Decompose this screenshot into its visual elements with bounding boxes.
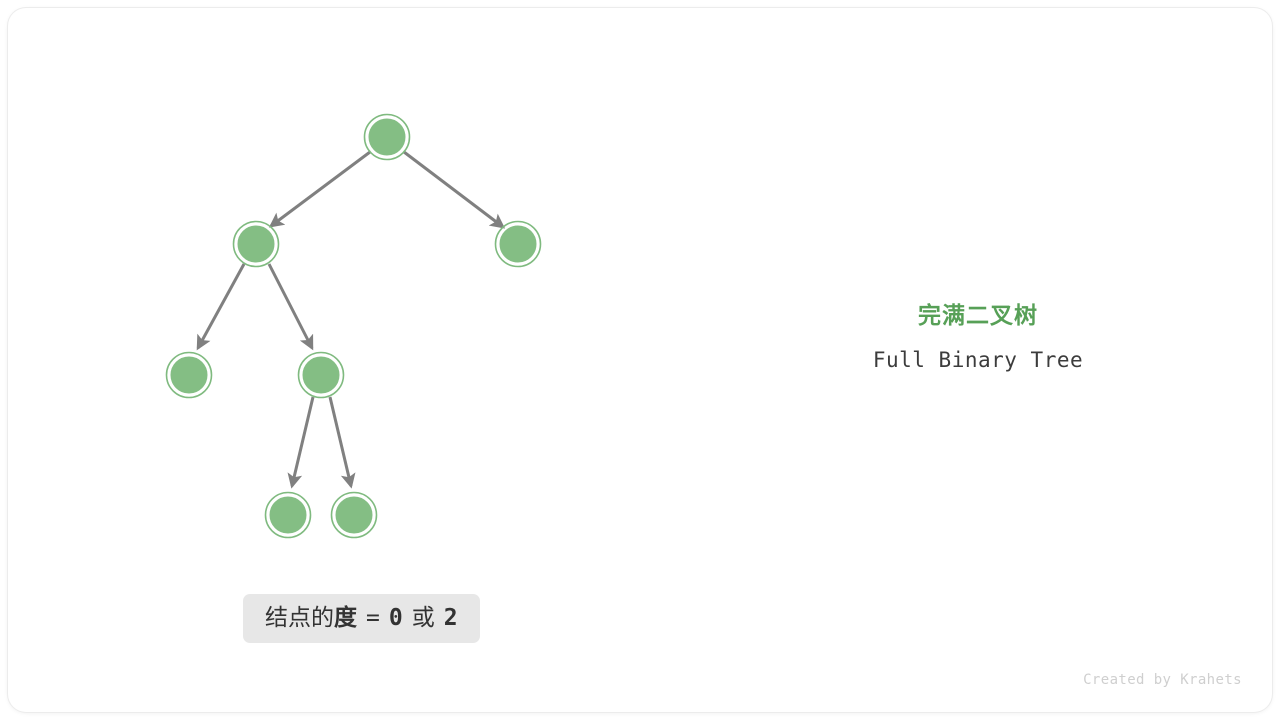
tree-edges — [198, 152, 503, 486]
caption-part-6: 2 — [444, 607, 458, 630]
edge-n5-n6 — [292, 397, 313, 486]
degree-caption-chip: 结点的度=0或2 — [243, 594, 480, 643]
tree-node-left-right[interactable] — [299, 353, 344, 398]
edge-n5-n7 — [330, 397, 351, 486]
edge-n1-n2 — [271, 152, 370, 226]
diagram-title-cn: 完满二叉树 — [768, 300, 1188, 330]
caption-part-1: 结点的 — [265, 607, 334, 630]
diagram-card: 完满二叉树 Full Binary Tree 结点的度=0或2 Created … — [8, 8, 1272, 712]
edge-n2-n5 — [269, 264, 312, 348]
caption-part-3: = — [366, 607, 380, 630]
edge-n1-n3 — [404, 152, 503, 227]
diagram-title-en: Full Binary Tree — [768, 346, 1188, 374]
tree-node-leaf-right[interactable] — [332, 493, 377, 538]
screenshot-canvas: 完满二叉树 Full Binary Tree 结点的度=0或2 Created … — [0, 0, 1280, 720]
title-block: 完满二叉树 Full Binary Tree — [768, 300, 1188, 374]
caption-part-5: 或 — [412, 607, 435, 630]
tree-node-left[interactable] — [234, 222, 279, 267]
edge-n2-n4 — [198, 264, 244, 348]
tree-nodes — [167, 115, 541, 538]
caption-part-4: 0 — [389, 607, 403, 630]
tree-node-leaf-left[interactable] — [266, 493, 311, 538]
tree-node-right[interactable] — [496, 222, 541, 267]
caption-part-2: 度 — [334, 607, 357, 630]
watermark-credit: Created by Krahets — [1083, 672, 1242, 688]
tree-node-root[interactable] — [365, 115, 410, 160]
tree-node-left-left[interactable] — [167, 353, 212, 398]
